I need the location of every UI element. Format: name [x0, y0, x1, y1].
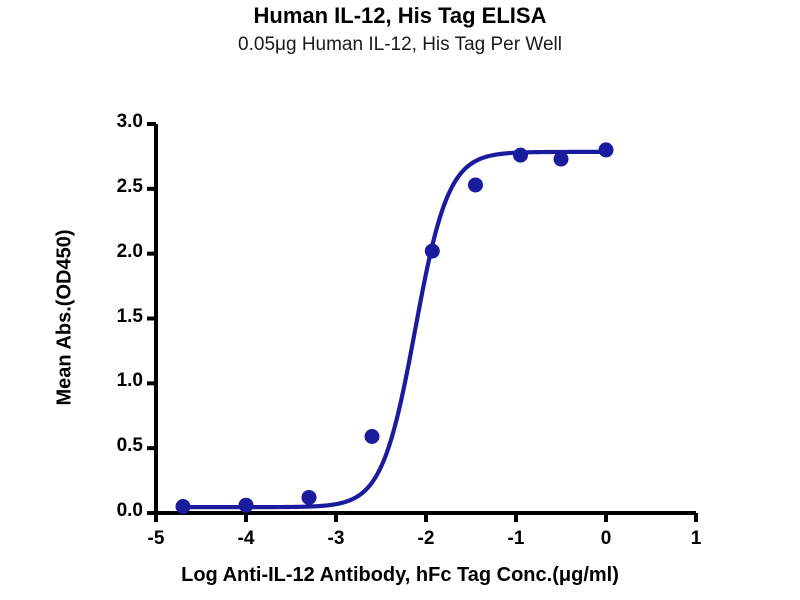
data-point [176, 499, 191, 514]
data-point [425, 244, 440, 259]
data-point [302, 490, 317, 505]
chart-figure: Human IL-12, His Tag ELISA 0.05μg Human … [0, 0, 800, 600]
data-point [468, 177, 483, 192]
sigmoid-fit-line [183, 152, 606, 507]
data-point [365, 429, 380, 444]
data-point [599, 142, 614, 157]
data-point [554, 152, 569, 167]
axes [147, 124, 696, 522]
data-point [239, 498, 254, 513]
plot-area [0, 0, 800, 600]
fit-curve [183, 152, 606, 507]
data-points [176, 142, 614, 514]
data-point [513, 148, 528, 163]
